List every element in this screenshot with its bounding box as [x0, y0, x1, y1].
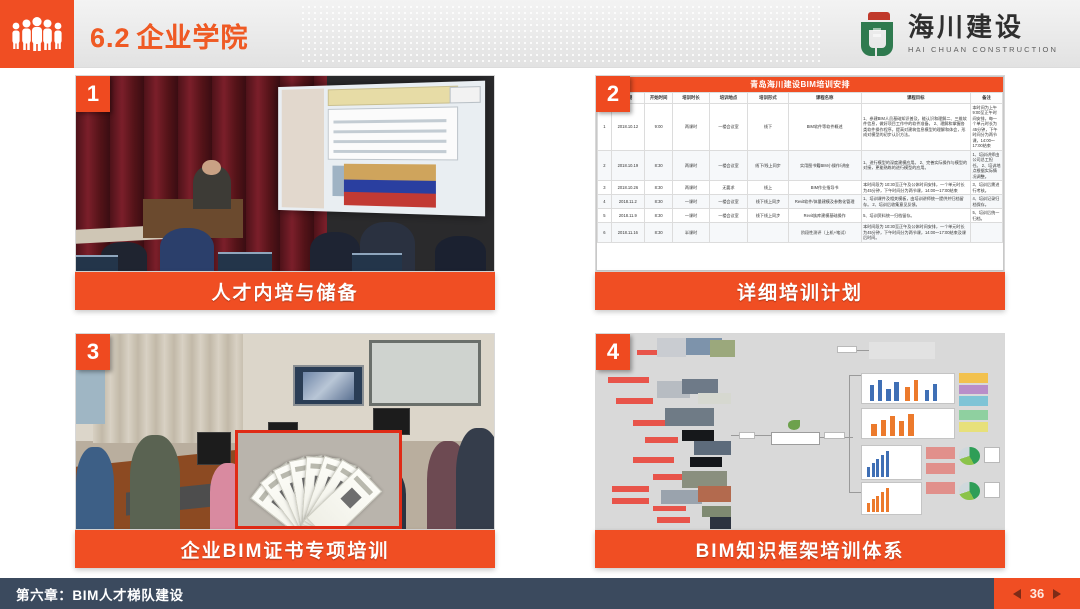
logo-mark-icon	[855, 9, 899, 59]
cell-no: 2	[598, 150, 612, 181]
cell-form: 线上	[748, 181, 789, 195]
cell-len: 两课时	[673, 150, 709, 181]
cell-goal: 本时间段为 10:30至正午及公休时间安排，一个单元时长为45分钟，下午时间分为…	[861, 181, 970, 195]
cell-len: 一课时	[673, 195, 709, 209]
panel-badge: 3	[76, 334, 110, 370]
cell-loc: 一楼会议室	[709, 150, 747, 181]
schedule-title: 青岛海川建设BIM培训安排	[597, 77, 1003, 92]
group-people-icon	[0, 0, 74, 68]
photo-classroom-training: 1	[75, 75, 495, 272]
section-title-text: 企业学院	[137, 23, 249, 53]
panel-caption: 详细培训计划	[595, 272, 1005, 310]
col-time: 开始时间	[644, 93, 672, 104]
page-title: 6.2企业学院	[90, 16, 249, 55]
table-row: 5 2018.11.9 8:30 一课时 一楼会议室 线下线上同步 Revit族…	[598, 209, 1003, 223]
cell-time: 8:30	[644, 150, 672, 181]
company-logo: 海川建设 HAI CHUAN CONSTRUCTION	[855, 7, 1058, 61]
panel-caption: BIM知识框架培训体系	[595, 530, 1005, 568]
cell-no: 5	[598, 209, 612, 223]
cell-form: 线下/线上同步	[748, 150, 789, 181]
cell-form: 线下	[748, 103, 789, 150]
cell-no: 6	[598, 223, 612, 243]
table-row: 6 2018.11.16 8:30 半课时 阶段性测评（上机+笔试） 本时间段为…	[598, 223, 1003, 243]
slide-footer: 第六章：BIM人才梯队建设 36	[0, 578, 1080, 609]
logo-text-en: HAI CHUAN CONSTRUCTION	[908, 45, 1058, 54]
cell-note: 3、培训后需进行考核。	[970, 181, 1002, 195]
page-number: 36	[1030, 586, 1044, 601]
cell-note: 4、培训记录归档保存。	[970, 195, 1002, 209]
section-number: 6.2	[90, 23, 131, 53]
schedule-table: 序号 日期 开始时间 培训时长 培训地点 培训形式 课程名称 课程目标 备注	[597, 92, 1003, 243]
col-length: 培训时长	[673, 93, 709, 104]
page-navigation[interactable]: 36	[994, 578, 1080, 609]
col-note: 备注	[970, 93, 1002, 104]
table-row: 2 2018.10.19 8:30 两课时 一楼会议室 线下/线上同步 实用图书…	[598, 150, 1003, 181]
cell-len: 两课时	[673, 103, 709, 150]
cell-goal: 1、培训课件及相关模板，由培训讲师统一提供并归档留存。 2、培训后收集意见反馈。	[861, 195, 970, 209]
cell-len: 一课时	[673, 209, 709, 223]
certificates-inset-photo	[235, 430, 402, 529]
cell-course: 实用图书籍BIM小操作/讲座	[788, 150, 861, 181]
cell-loc: 无要求	[709, 181, 747, 195]
header-dot-pattern	[300, 4, 820, 62]
cell-len: 半课时	[673, 223, 709, 243]
cell-date: 2018.10.19	[611, 150, 644, 181]
cell-loc: 一楼会议室	[709, 209, 747, 223]
cell-date: 2018.11.2	[611, 195, 644, 209]
panel-talent-training[interactable]: 1 人才内培与储备	[75, 75, 495, 310]
panel-bim-certificate-training[interactable]: 3 企业BIM证书专项培训	[75, 333, 495, 568]
cell-note: 本时间为上午9:00至正午时间安排，每一个单元时长为45分钟，下午时间分为两节课…	[970, 103, 1002, 150]
table-header-row: 序号 日期 开始时间 培训时长 培训地点 培训形式 课程名称 课程目标 备注	[598, 93, 1003, 104]
cell-goal: 5、培训资料统一归档留存。	[861, 209, 970, 223]
cell-form: 线下线上同步	[748, 209, 789, 223]
cell-date: 2018.11.16	[611, 223, 644, 243]
mindmap-knowledge-framework: 4	[595, 333, 1005, 530]
slide-header: 6.2企业学院 海川建设 HAI CHUAN CONSTRUCTION	[0, 0, 1080, 68]
cell-form: 线下线上同步	[748, 195, 789, 209]
cell-note: 1、培训讲师由公司总工担任。 2、培训地点根据实际情况调整。	[970, 150, 1002, 181]
col-form: 培训形式	[748, 93, 789, 104]
cell-course: BIM软件等软件概述	[788, 103, 861, 150]
cell-goal: 1、参建BIM人员基础知识普及，能认识和理解二、三维软件信息，做好项目工作中的软…	[861, 103, 970, 150]
triangle-right-icon[interactable]	[1053, 589, 1061, 599]
panel-training-plan[interactable]: 青岛海川建设BIM培训安排 序号 日期 开始时间 培训时长 培训地点 培训形式 …	[595, 75, 1005, 310]
cell-loc: 一楼会议室	[709, 195, 747, 209]
cell-course: 阶段性测评（上机+笔试）	[788, 223, 861, 243]
cell-course: Revit族库建模基础操作	[788, 209, 861, 223]
cell-loc: 一楼会议室	[709, 103, 747, 150]
table-row: 3 2018.10.26 8:30 两课时 无要求 线上 BIM作业指导书 本时…	[598, 181, 1003, 195]
cell-note: 5、培训后统一归档。	[970, 209, 1002, 223]
col-place: 培训地点	[709, 93, 747, 104]
panel-caption: 人才内培与储备	[75, 272, 495, 310]
cell-course: Revit软件/体量建模及参数化管理	[788, 195, 861, 209]
panel-caption: 企业BIM证书专项培训	[75, 530, 495, 568]
logo-text-cn: 海川建设	[908, 14, 1058, 41]
col-course: 课程名称	[788, 93, 861, 104]
cell-time: 8:30	[644, 181, 672, 195]
cell-no: 4	[598, 195, 612, 209]
cell-course: BIM作业指导书	[788, 181, 861, 195]
panel-badge: 2	[596, 76, 630, 112]
cell-date: 2018.10.26	[611, 181, 644, 195]
cell-no: 3	[598, 181, 612, 195]
chapter-label: 第六章：BIM人才梯队建设	[16, 584, 184, 604]
photo-meeting-room-with-certificates-inset: 3	[75, 333, 495, 530]
panel-bim-knowledge-framework[interactable]: 4 BIM知识框架培训体系	[595, 333, 1005, 568]
slide: 6.2企业学院 海川建设 HAI CHUAN CONSTRUCTION	[0, 0, 1080, 609]
col-goal: 课程目标	[861, 93, 970, 104]
cell-form	[748, 223, 789, 243]
triangle-left-icon[interactable]	[1013, 589, 1021, 599]
cell-goal: 1、进行模型的深度建模应用。 2、完善实际操作与模型的对接，更能熟练的进行模型的…	[861, 150, 970, 181]
table-row: 4 2018.11.2 8:30 一课时 一楼会议室 线下线上同步 Revit软…	[598, 195, 1003, 209]
panel-badge: 1	[76, 76, 110, 112]
panel-badge: 4	[596, 334, 630, 370]
cell-time: 8:30	[644, 195, 672, 209]
training-schedule-table: 青岛海川建设BIM培训安排 序号 日期 开始时间 培训时长 培训地点 培训形式 …	[595, 75, 1005, 272]
cell-date: 2018.11.9	[611, 209, 644, 223]
cell-note	[970, 223, 1002, 243]
cell-time: 8:30	[644, 223, 672, 243]
table-row: 1 2018.10.12 9:00 两课时 一楼会议室 线下 BIM软件等软件概…	[598, 103, 1003, 150]
cell-len: 两课时	[673, 181, 709, 195]
cell-goal: 本时间段为 10:30至正午及公休时间安排，一个单元时长为45分钟，下午时间分为…	[861, 223, 970, 243]
cell-time: 9:00	[644, 103, 672, 150]
cell-time: 8:30	[644, 209, 672, 223]
cell-loc	[709, 223, 747, 243]
